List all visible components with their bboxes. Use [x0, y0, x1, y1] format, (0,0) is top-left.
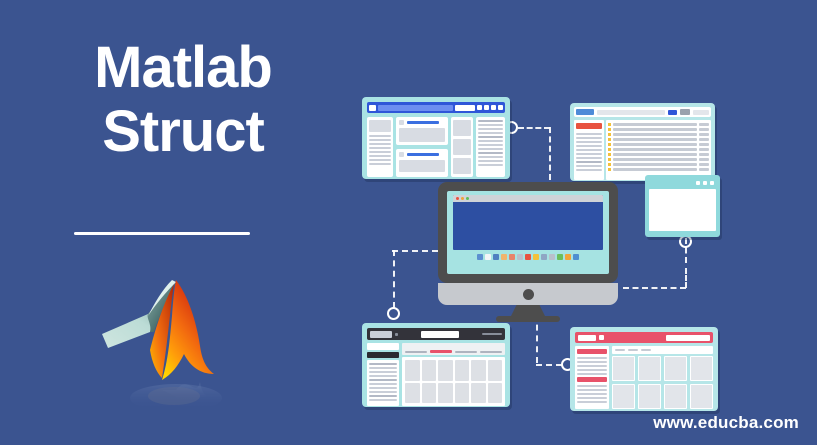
- content-card[interactable]: [690, 356, 713, 381]
- title-divider: [74, 232, 250, 235]
- connected-devices-diagram: [340, 75, 810, 420]
- dock-icon[interactable]: [541, 254, 547, 260]
- right-widget-column[interactable]: [451, 117, 473, 177]
- monitor-chin: [438, 283, 618, 305]
- media-thumbnail[interactable]: [422, 383, 437, 404]
- mail-row[interactable]: [608, 137, 709, 141]
- media-thumbnail-grid[interactable]: [402, 357, 505, 406]
- left-sidebar[interactable]: [367, 117, 393, 177]
- dock-icon[interactable]: [477, 254, 483, 260]
- widget-block: [453, 139, 471, 155]
- media-search-input[interactable]: [421, 331, 459, 338]
- matlab-logo-svg: [88, 262, 236, 422]
- tab-item-active[interactable]: [430, 350, 452, 353]
- app-tile-grid[interactable]: [453, 202, 603, 213]
- dock-icon[interactable]: [525, 254, 531, 260]
- monitor-stand-base: [496, 316, 560, 322]
- star-icon[interactable]: [608, 163, 611, 166]
- monitor-home-button[interactable]: [523, 289, 534, 300]
- connector-line-mr-v2: [685, 268, 687, 288]
- mail-account-chip[interactable]: [693, 110, 709, 115]
- sidebar-thumb: [369, 120, 391, 132]
- mail-row[interactable]: [608, 132, 709, 136]
- connector-line-tl-v: [549, 127, 551, 180]
- menu-icon[interactable]: [599, 335, 604, 340]
- connector-line-br-h-top: [623, 287, 686, 289]
- window-mid-right[interactable]: [645, 175, 720, 237]
- content-card[interactable]: [396, 149, 448, 177]
- window-bottom-right[interactable]: [570, 327, 718, 411]
- toolbar-item[interactable]: [615, 349, 625, 351]
- mail-row[interactable]: [608, 147, 709, 151]
- titlebar-actions[interactable]: [482, 333, 502, 335]
- window-top-left[interactable]: [362, 97, 510, 179]
- card-grid[interactable]: [612, 356, 713, 409]
- card-app-sidebar[interactable]: [575, 346, 609, 409]
- card-app-main: [612, 346, 713, 409]
- window-top-left-body: [367, 117, 505, 177]
- center-monitor[interactable]: [438, 182, 618, 318]
- mail-toolbar[interactable]: [574, 107, 711, 117]
- content-card[interactable]: [396, 117, 448, 145]
- star-icon[interactable]: [608, 148, 611, 151]
- card-app-titlebar[interactable]: [575, 332, 713, 343]
- browser-window[interactable]: [453, 195, 603, 250]
- sidebar-list[interactable]: [367, 360, 399, 406]
- media-thumbnail[interactable]: [455, 360, 470, 381]
- star-icon[interactable]: [608, 123, 611, 126]
- mail-row[interactable]: [608, 122, 709, 126]
- poster-canvas: Matlab Struct: [0, 0, 817, 445]
- toolbar-square-icon[interactable]: [477, 105, 482, 110]
- toolbar-square-icon[interactable]: [484, 105, 489, 110]
- title-line-2: Struct: [48, 100, 318, 164]
- site-watermark: www.educba.com: [653, 413, 799, 433]
- window-top-right[interactable]: [570, 103, 715, 181]
- compose-button[interactable]: [576, 123, 602, 129]
- sidebar-section-header: [577, 349, 607, 354]
- star-icon[interactable]: [608, 128, 611, 131]
- page-title: Matlab Struct: [48, 36, 318, 164]
- dock-icon[interactable]: [573, 254, 579, 260]
- card-app-body: [575, 346, 713, 409]
- title-line-1: Matlab: [48, 36, 318, 100]
- media-titlebar[interactable]: [367, 328, 505, 340]
- toolbar-square-icon[interactable]: [491, 105, 496, 110]
- media-thumbnail[interactable]: [455, 383, 470, 404]
- maximize-dot-icon[interactable]: [466, 197, 469, 200]
- sidebar-chip-active[interactable]: [367, 352, 399, 359]
- connector-dot-bottom-left[interactable]: [387, 307, 400, 320]
- right-list-column[interactable]: [476, 117, 505, 177]
- media-thumbnail[interactable]: [422, 360, 437, 381]
- mail-secondary-button[interactable]: [680, 109, 690, 115]
- mail-row[interactable]: [608, 152, 709, 156]
- window-minimize-icon[interactable]: [696, 181, 700, 185]
- window-mid-right-titlebar[interactable]: [649, 179, 716, 187]
- mail-row[interactable]: [608, 167, 709, 171]
- mail-row[interactable]: [608, 157, 709, 161]
- window-maximize-icon[interactable]: [703, 181, 707, 185]
- star-icon[interactable]: [608, 133, 611, 136]
- mail-body: [574, 120, 711, 180]
- dock-icon[interactable]: [501, 254, 507, 260]
- mail-row[interactable]: [608, 127, 709, 131]
- dock-icon[interactable]: [565, 254, 571, 260]
- star-icon[interactable]: [608, 153, 611, 156]
- window-top-left-titlebar[interactable]: [367, 102, 505, 113]
- widget-block: [453, 120, 471, 136]
- mail-sidebar[interactable]: [574, 120, 604, 180]
- content-card[interactable]: [638, 356, 661, 381]
- dock-icon[interactable]: [517, 254, 523, 260]
- widget-block: [453, 158, 471, 174]
- dock-icon[interactable]: [485, 254, 491, 260]
- card-avatar: [399, 120, 404, 125]
- blank-document-area[interactable]: [649, 189, 716, 231]
- media-thumbnail[interactable]: [471, 383, 486, 404]
- connector-line-tl-h: [518, 127, 550, 129]
- app-brand-icon: [370, 331, 392, 338]
- star-icon[interactable]: [608, 138, 611, 141]
- media-sidebar[interactable]: [367, 343, 399, 406]
- card-app-search-input[interactable]: [666, 335, 710, 341]
- app-logo-icon: [578, 335, 596, 341]
- media-thumbnail[interactable]: [471, 360, 486, 381]
- media-thumbnail[interactable]: [438, 360, 453, 381]
- card-title-line: [407, 153, 439, 156]
- card-title-line: [407, 121, 439, 124]
- toolbar-field[interactable]: [455, 105, 475, 111]
- window-bottom-left[interactable]: [362, 323, 510, 407]
- connector-line-bl-v: [393, 250, 395, 308]
- monitor-screen[interactable]: [447, 191, 609, 274]
- window-close-icon[interactable]: [498, 105, 503, 110]
- mail-search-input[interactable]: [597, 110, 665, 115]
- dock-icon[interactable]: [493, 254, 499, 260]
- media-main: [402, 343, 505, 406]
- browser-titlebar[interactable]: [453, 195, 603, 202]
- minimize-dot-icon[interactable]: [461, 197, 464, 200]
- media-tab-row[interactable]: [402, 343, 505, 355]
- mail-row[interactable]: [608, 162, 709, 166]
- address-bar[interactable]: [378, 105, 453, 111]
- content-card[interactable]: [690, 384, 713, 409]
- media-thumbnail[interactable]: [405, 360, 420, 381]
- media-body: [367, 343, 505, 406]
- content-card[interactable]: [664, 384, 687, 409]
- menu-dot-icon[interactable]: [395, 333, 398, 336]
- toolbar-item[interactable]: [641, 349, 651, 351]
- monitor-bezel: [438, 182, 618, 283]
- logo-reflection: [130, 382, 222, 412]
- content-column: [396, 117, 448, 177]
- star-icon[interactable]: [608, 168, 611, 171]
- browser-tab-icon[interactable]: [369, 105, 376, 111]
- close-dot-icon[interactable]: [456, 197, 459, 200]
- connector-line-br-h: [536, 364, 562, 366]
- tab-item[interactable]: [455, 351, 477, 353]
- connector-line-bl-h: [392, 250, 438, 252]
- sidebar-section-header: [577, 377, 607, 382]
- card-image: [399, 128, 445, 142]
- media-thumbnail[interactable]: [438, 383, 453, 404]
- dock-icon[interactable]: [557, 254, 563, 260]
- mail-logo-icon: [576, 109, 594, 115]
- dock-icon[interactable]: [533, 254, 539, 260]
- mail-primary-button[interactable]: [668, 110, 677, 115]
- sidebar-chip[interactable]: [367, 343, 399, 350]
- card-app-toolbar[interactable]: [612, 346, 713, 354]
- mail-row[interactable]: [608, 142, 709, 146]
- tab-item[interactable]: [405, 351, 427, 353]
- dock-bar[interactable]: [453, 254, 603, 260]
- star-icon[interactable]: [608, 158, 611, 161]
- dock-icon[interactable]: [509, 254, 515, 260]
- card-avatar: [399, 152, 404, 157]
- star-icon[interactable]: [608, 143, 611, 146]
- content-card[interactable]: [638, 384, 661, 409]
- dock-icon[interactable]: [549, 254, 555, 260]
- window-close-icon[interactable]: [710, 181, 714, 185]
- toolbar-item[interactable]: [628, 349, 638, 351]
- mail-message-list[interactable]: [606, 120, 711, 180]
- media-thumbnail[interactable]: [405, 383, 420, 404]
- content-card[interactable]: [612, 384, 635, 409]
- content-card[interactable]: [664, 356, 687, 381]
- content-card[interactable]: [612, 356, 635, 381]
- card-image: [399, 160, 445, 172]
- media-thumbnail[interactable]: [488, 360, 503, 381]
- media-thumbnail[interactable]: [488, 383, 503, 404]
- matlab-membrane-logo: [88, 262, 236, 422]
- tab-item[interactable]: [480, 351, 502, 353]
